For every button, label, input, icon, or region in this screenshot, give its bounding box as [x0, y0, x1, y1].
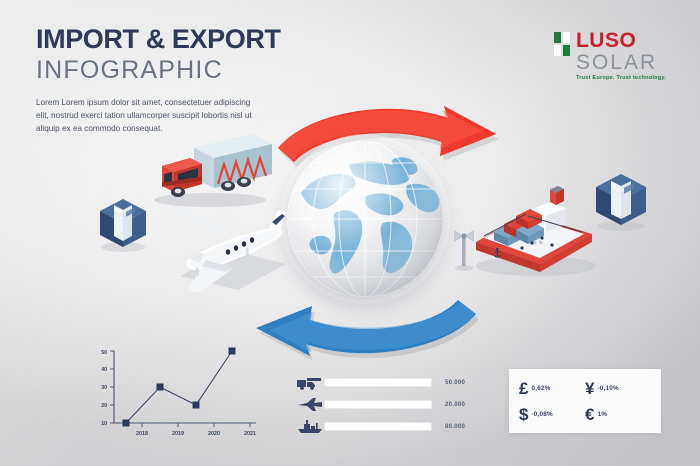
page-subtitle: INFOGRAPHIC	[36, 56, 281, 85]
bar-row-truck: 50.000	[296, 374, 486, 391]
y-tick-10: 10	[101, 421, 107, 427]
euro-icon: €	[585, 406, 594, 423]
line-chart: 10 20 30 40 50 2018 2019 2020 2021	[88, 345, 263, 445]
currency-item-euro[interactable]: € 1%	[585, 406, 651, 423]
y-tick-40: 40	[101, 367, 107, 373]
truck-icon	[296, 375, 324, 390]
globe-icon	[287, 141, 443, 297]
yen-icon: ¥	[585, 380, 594, 397]
line-chart-x-labels: 2018 2019 2020 2021	[136, 431, 256, 437]
x-tick-2020: 2020	[208, 431, 220, 437]
y-tick-50: 50	[101, 350, 107, 356]
delivery-truck-icon	[148, 130, 276, 208]
y-tick-20: 20	[101, 403, 107, 409]
logo-mark-icon	[554, 32, 570, 56]
line-series-markers	[123, 348, 236, 427]
bar-value-plane: 20.000	[445, 402, 465, 408]
x-tick-2021: 2021	[244, 431, 256, 437]
data-point	[157, 384, 164, 391]
bar-value-truck: 50.000	[445, 380, 465, 386]
data-point	[229, 348, 236, 355]
data-point	[123, 420, 130, 427]
bar-track	[324, 400, 432, 409]
logo-wordmark: LUSO SOLAR Trust Europe. Trust technolog…	[576, 30, 666, 82]
currency-value-yen: -0,10%	[597, 385, 618, 392]
line-series-path	[126, 351, 232, 423]
page-title: IMPORT & EXPORT	[36, 26, 281, 53]
bar-track	[324, 378, 432, 387]
logo-name-top: LUSO	[576, 30, 666, 51]
header-block: IMPORT & EXPORT INFOGRAPHIC Lorem Lorem …	[36, 26, 281, 136]
x-tick-2018: 2018	[136, 431, 148, 437]
currency-value-dollar: -0,08%	[531, 411, 552, 418]
currency-value-pound: 0,62%	[531, 385, 550, 392]
line-chart-y-labels: 10 20 30 40 50	[101, 350, 107, 427]
bar-row-plane: 20.000	[296, 396, 486, 413]
currency-item-dollar[interactable]: $ -0,08%	[519, 406, 585, 423]
bar-chart: 50.000 20.000	[296, 374, 486, 440]
logo-tagline: Trust Europe. Trust technology.	[576, 76, 666, 82]
arrow-left-blue-icon	[250, 288, 482, 360]
x-tick-2019: 2019	[172, 431, 184, 437]
currency-panel: £ 0,62% ¥ -0,10% $ -0,08% € 1%	[509, 369, 661, 433]
currency-item-yen[interactable]: ¥ -0,10%	[585, 380, 651, 397]
y-tick-30: 30	[101, 385, 107, 391]
brand-logo[interactable]: LUSO SOLAR Trust Europe. Trust technolog…	[554, 30, 666, 82]
pound-icon: £	[519, 380, 528, 397]
logo-name-bottom: SOLAR	[576, 52, 666, 73]
dollar-icon: $	[519, 406, 528, 423]
cargo-ship-icon	[470, 180, 600, 285]
plane-icon	[296, 397, 324, 412]
cargo-plane-icon	[160, 198, 300, 296]
parcel-box-icon	[96, 197, 150, 253]
bar-row-ship: 80.000	[296, 418, 486, 435]
dock-crane-icon	[448, 224, 482, 272]
data-point	[193, 402, 200, 409]
parcel-box-icon	[592, 172, 650, 232]
bar-track	[324, 422, 432, 431]
currency-value-euro: 1%	[597, 411, 607, 418]
currency-item-pound[interactable]: £ 0,62%	[519, 380, 585, 397]
bar-value-ship: 80.000	[445, 424, 465, 430]
infographic-canvas: IMPORT & EXPORT INFOGRAPHIC Lorem Lorem …	[0, 0, 700, 466]
ship-icon	[296, 419, 324, 434]
